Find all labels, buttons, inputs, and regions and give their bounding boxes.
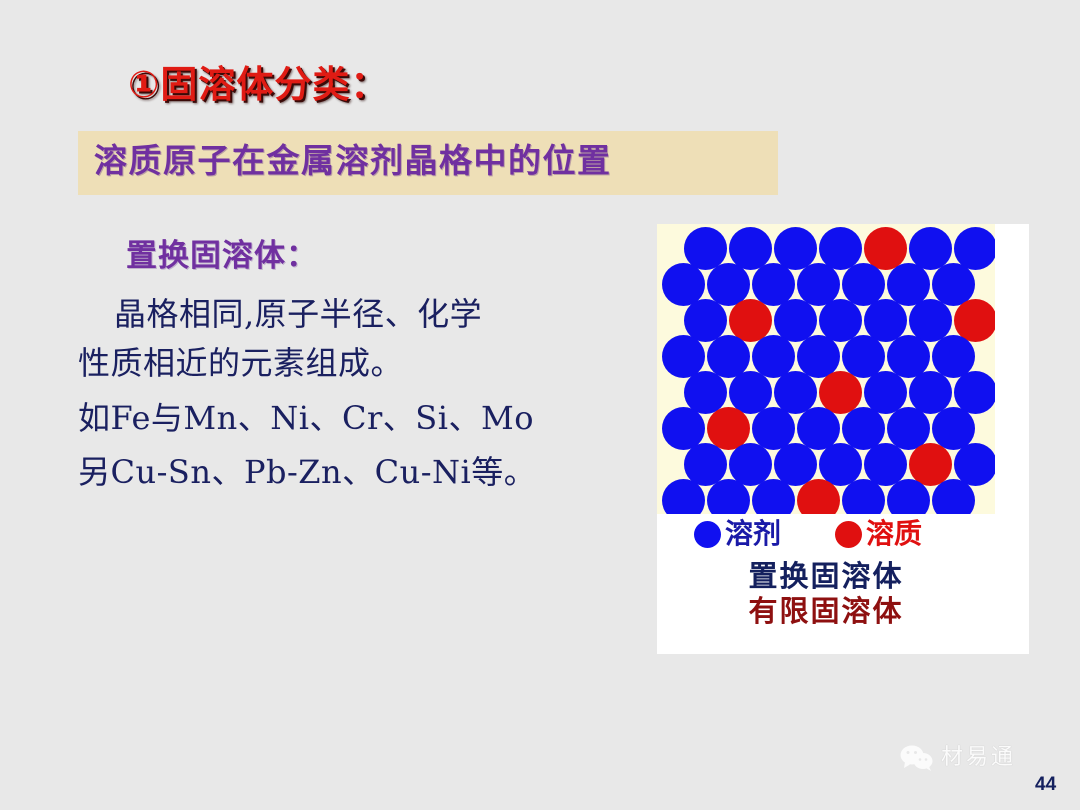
slide-canvas: ①固溶体分类： 溶质原子在金属溶剂晶格中的位置 置换固溶体： 晶格相同,原子半径… bbox=[0, 0, 1080, 810]
body-line-2: 性质相近的元素组成。 bbox=[78, 339, 638, 388]
solvent-atom bbox=[932, 479, 975, 514]
blue-circle-icon bbox=[694, 521, 721, 548]
figure-caption-secondary: 有限固溶体 bbox=[657, 595, 995, 627]
body-line-4: 另Cu-Sn、Pb-Zn、Cu-Ni等。 bbox=[78, 448, 638, 497]
body-column: 置换固溶体： 晶格相同,原子半径、化学 性质相近的元素组成。 如Fe与Mn、Ni… bbox=[78, 236, 638, 497]
body-lead-heading: 置换固溶体： bbox=[126, 236, 638, 276]
page-number: 44 bbox=[1035, 775, 1056, 794]
red-circle-icon bbox=[835, 521, 862, 548]
body-line-1: 晶格相同,原子半径、化学 bbox=[78, 290, 638, 339]
subtitle-band: 溶质原子在金属溶剂晶格中的位置 bbox=[78, 131, 778, 195]
watermark: 材易通 bbox=[900, 745, 1016, 771]
legend-item-solvent: 溶剂 bbox=[694, 520, 781, 548]
solute-atom bbox=[797, 479, 840, 514]
figure-legend: 溶剂 溶质 bbox=[657, 520, 995, 554]
subtitle-text: 溶质原子在金属溶剂晶格中的位置 bbox=[94, 140, 612, 181]
legend-label-solvent: 溶剂 bbox=[725, 520, 781, 548]
solvent-atom bbox=[842, 479, 885, 514]
figure-panel: 溶剂 溶质 置换固溶体 有限固溶体 bbox=[657, 224, 1029, 654]
watermark-text: 材易通 bbox=[941, 747, 1016, 769]
lattice-diagram bbox=[657, 224, 995, 514]
legend-label-solute: 溶质 bbox=[866, 520, 922, 548]
solvent-atom bbox=[662, 479, 705, 514]
solvent-atom bbox=[887, 479, 930, 514]
page-title: ①固溶体分类： bbox=[128, 66, 388, 103]
solvent-atom bbox=[752, 479, 795, 514]
solvent-atom bbox=[707, 479, 750, 514]
body-line-3: 如Fe与Mn、Ni、Cr、Si、Mo bbox=[78, 394, 638, 443]
figure-caption-primary: 置换固溶体 bbox=[657, 560, 995, 592]
legend-item-solute: 溶质 bbox=[835, 520, 922, 548]
wechat-icon bbox=[900, 745, 934, 771]
